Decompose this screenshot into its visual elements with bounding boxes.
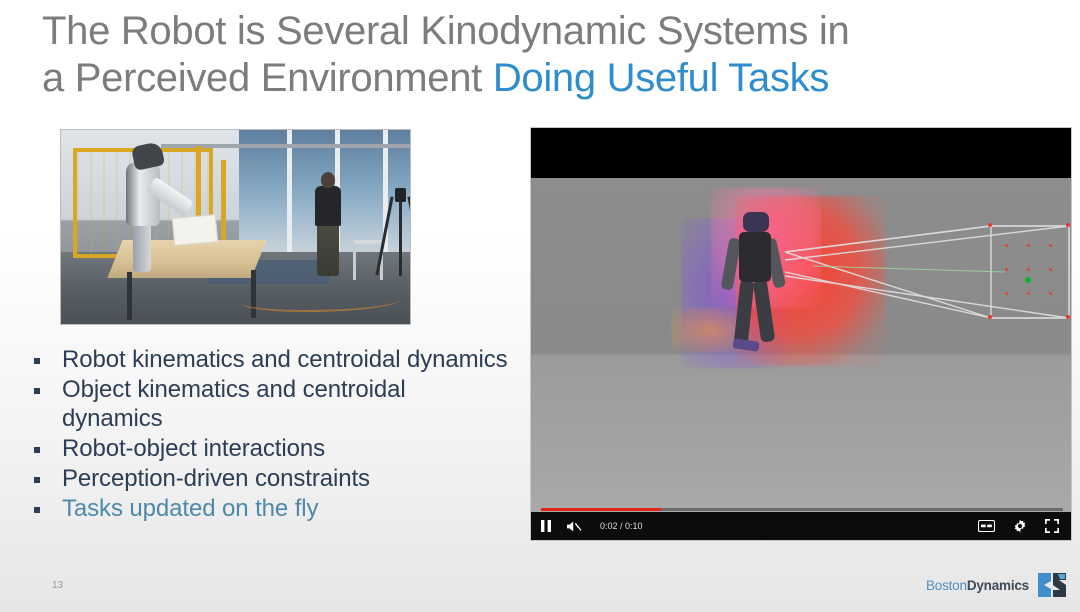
video-player[interactable]: 0:02 / 0:10 bbox=[530, 127, 1072, 541]
bullet-text-highlighted: Tasks updated on the fly bbox=[62, 494, 318, 523]
title-line-2-accent: Doing Useful Tasks bbox=[493, 56, 829, 100]
boston-dynamics-mark-icon bbox=[1038, 572, 1066, 599]
robot-head bbox=[743, 212, 769, 232]
frustum-grid-dot bbox=[1049, 268, 1052, 271]
frustum-grid-dot bbox=[1027, 268, 1030, 271]
video-controls-bar[interactable]: 0:02 / 0:10 bbox=[531, 512, 1071, 540]
frustum-grid-dot bbox=[1049, 244, 1052, 247]
frustum-corner-dot bbox=[988, 223, 992, 227]
photo-tripod bbox=[373, 170, 411, 280]
frustum-grid-dot bbox=[1005, 268, 1008, 271]
video-controls-right bbox=[978, 512, 1059, 540]
pause-icon[interactable] bbox=[541, 520, 552, 532]
video-time-display: 0:02 / 0:10 bbox=[600, 521, 643, 531]
photo-person-legs bbox=[317, 224, 339, 276]
bullet-square-icon bbox=[34, 358, 40, 364]
bullet-square-icon bbox=[34, 507, 40, 513]
frustum-target-dot bbox=[1025, 277, 1031, 283]
boston-dynamics-logo: BostonDynamics bbox=[926, 572, 1066, 599]
photo-table-leg bbox=[127, 272, 132, 320]
photo-person-head bbox=[321, 172, 335, 188]
frustum-corner-dot bbox=[1066, 223, 1070, 227]
view-frustum bbox=[783, 214, 1072, 404]
frustum-grid-dot bbox=[1027, 292, 1030, 295]
gear-icon[interactable] bbox=[1013, 519, 1027, 533]
bullet-square-icon bbox=[34, 477, 40, 483]
page-number: 13 bbox=[52, 580, 63, 591]
robot-torso bbox=[739, 232, 771, 282]
frustum-grid-dot bbox=[1005, 292, 1008, 295]
photo-robot-leg bbox=[133, 224, 151, 272]
bullet-text: Robot kinematics and centroidal dynamics bbox=[62, 345, 508, 374]
logo-dynamics-text: Dynamics bbox=[967, 578, 1029, 593]
title-line-1: The Robot is Several Kinodynamic Systems… bbox=[42, 9, 849, 53]
video-controls-left: 0:02 / 0:10 bbox=[541, 512, 643, 540]
list-item: Tasks updated on the fly bbox=[28, 494, 508, 523]
video-letterbox bbox=[531, 128, 1071, 178]
frustum-corner-dot bbox=[1066, 315, 1070, 319]
bullet-text: Robot-object interactions bbox=[62, 434, 325, 463]
logo-wordmark: BostonDynamics bbox=[926, 578, 1029, 593]
page-title: The Robot is Several Kinodynamic Systems… bbox=[42, 8, 1042, 102]
list-item: Robot kinematics and centroidal dynamics bbox=[28, 345, 508, 374]
list-item: Robot-object interactions bbox=[28, 434, 508, 463]
video-scene bbox=[531, 178, 1071, 514]
frustum-corner-dot bbox=[988, 315, 992, 319]
simulated-robot-model bbox=[727, 212, 791, 372]
robot-foot bbox=[732, 338, 759, 352]
bullet-square-icon bbox=[34, 388, 40, 394]
robot-lab-photo bbox=[60, 129, 411, 325]
bullet-list: Robot kinematics and centroidal dynamics… bbox=[28, 345, 508, 524]
bullet-text: Perception-driven constraints bbox=[62, 464, 370, 493]
closed-captions-icon[interactable] bbox=[978, 520, 995, 532]
frustum-wireframe-svg bbox=[783, 214, 1072, 404]
video-progress-bar[interactable] bbox=[541, 508, 1063, 511]
photo-window-mullion bbox=[287, 130, 292, 258]
title-line-2-plain: a Perceived Environment bbox=[42, 56, 493, 100]
frustum-grid-dot bbox=[1005, 244, 1008, 247]
volume-muted-icon[interactable] bbox=[566, 520, 582, 533]
robot-leg-left bbox=[734, 279, 755, 346]
bullet-square-icon bbox=[34, 447, 40, 453]
photo-tripod-head bbox=[395, 188, 406, 202]
frustum-grid-dot bbox=[1049, 292, 1052, 295]
list-item: Perception-driven constraints bbox=[28, 464, 508, 493]
photo-person-torso bbox=[315, 186, 341, 226]
photo-box-object bbox=[172, 214, 218, 246]
frustum-grid-dot bbox=[1027, 244, 1030, 247]
logo-boston-text: Boston bbox=[926, 578, 967, 593]
robot-leg-right bbox=[753, 279, 775, 342]
fullscreen-icon[interactable] bbox=[1045, 519, 1059, 533]
list-item: Object kinematics and centroidal dynamic… bbox=[28, 375, 508, 433]
slide: The Robot is Several Kinodynamic Systems… bbox=[0, 0, 1080, 612]
video-progress-fill bbox=[541, 508, 661, 511]
bullet-text: Object kinematics and centroidal dynamic… bbox=[62, 375, 508, 433]
